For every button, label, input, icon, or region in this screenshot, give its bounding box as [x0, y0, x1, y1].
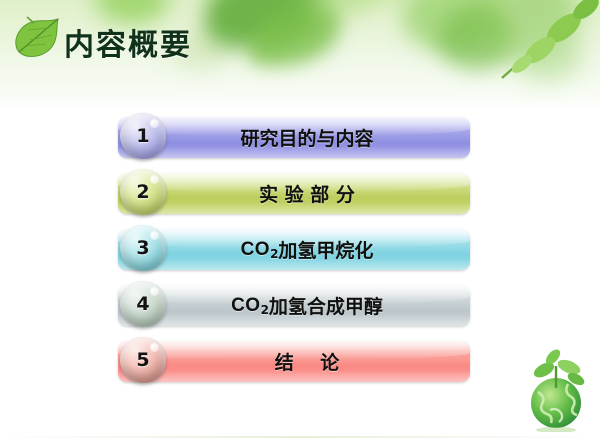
- agenda-label-suffix: 加氢合成甲醇: [269, 292, 383, 319]
- agenda-item-3[interactable]: 3 CO2加氢甲烷化: [118, 229, 470, 270]
- agenda-number-label: 1: [136, 125, 149, 147]
- leaf-icon: [12, 16, 62, 60]
- agenda-item-1[interactable]: 1 研究目的与内容: [118, 117, 470, 158]
- slide-canvas: 内容概要 1 研究目的与内容 2 实 验 部 分: [0, 0, 600, 438]
- page-title: 内容概要: [64, 20, 192, 64]
- agenda-number-label: 2: [136, 181, 149, 203]
- agenda-number-badge: 4: [120, 281, 166, 327]
- badge-highlight-icon: [150, 231, 159, 240]
- agenda-number-badge: 5: [120, 337, 166, 383]
- agenda-item-label: 实 验 部 分: [118, 173, 470, 214]
- agenda-label-suffix: 加氢甲烷化: [278, 236, 373, 263]
- green-globe-sprout-icon: [520, 348, 592, 432]
- agenda-list: 1 研究目的与内容 2 实 验 部 分 3 CO2加氢甲烷化: [0, 117, 600, 397]
- agenda-label-suffix: 结 论: [275, 348, 339, 375]
- leaf-sprig-icon: [494, 0, 600, 80]
- badge-highlight-icon: [150, 287, 159, 296]
- agenda-label-suffix: 实 验 部 分: [259, 180, 355, 207]
- agenda-label-suffix: 研究目的与内容: [240, 124, 373, 151]
- agenda-number-badge: 3: [120, 225, 166, 271]
- agenda-label-subscript: 2: [261, 303, 269, 317]
- agenda-number-label: 3: [136, 237, 149, 259]
- agenda-label-prefix: CO: [231, 295, 261, 317]
- agenda-number-label: 5: [136, 349, 149, 371]
- badge-highlight-icon: [150, 343, 159, 352]
- agenda-number-badge: 2: [120, 169, 166, 215]
- agenda-item-label: CO2加氢合成甲醇: [118, 285, 470, 326]
- agenda-number-label: 4: [136, 293, 149, 315]
- agenda-item-5[interactable]: 5 结 论: [118, 341, 470, 382]
- agenda-item-2[interactable]: 2 实 验 部 分: [118, 173, 470, 214]
- badge-highlight-icon: [150, 119, 159, 128]
- agenda-item-label: CO2加氢甲烷化: [118, 229, 470, 270]
- badge-highlight-icon: [150, 175, 159, 184]
- agenda-item-label: 研究目的与内容: [118, 117, 470, 158]
- agenda-item-label: 结 论: [118, 341, 470, 382]
- agenda-number-badge: 1: [120, 113, 166, 159]
- agenda-item-4[interactable]: 4 CO2加氢合成甲醇: [118, 285, 470, 326]
- agenda-label-subscript: 2: [270, 247, 278, 261]
- agenda-label-prefix: CO: [241, 239, 271, 261]
